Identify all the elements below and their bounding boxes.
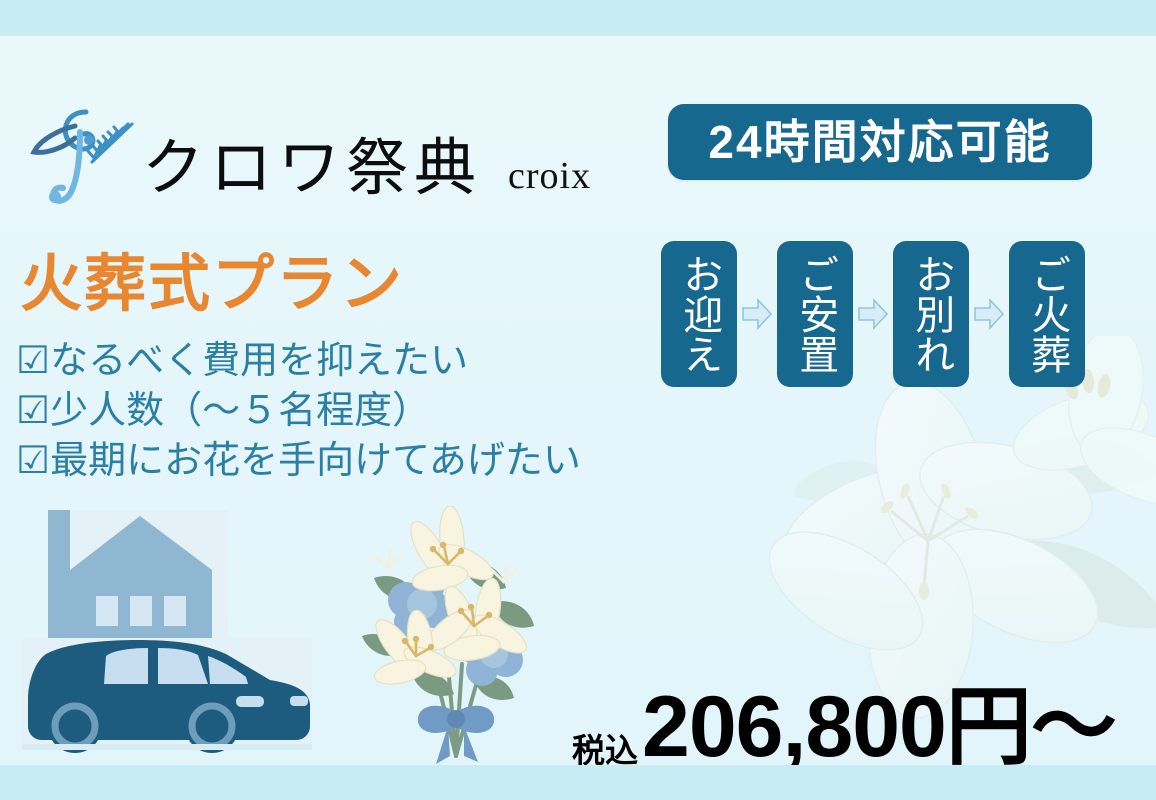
badge-24h: 24時間対応可能 [668, 104, 1092, 180]
flow-step-label: お別れ [910, 254, 952, 374]
flow-step-3: お別れ [893, 241, 969, 387]
price-block: 税込 206,800円〜 [572, 684, 1116, 765]
plan-title: 火葬式プラン [20, 254, 404, 316]
flow-step-label: ご安置 [794, 254, 836, 374]
checklist-item: ☑なるべく費用を抑えたい [16, 336, 636, 386]
poster-stage: クロワ祭典 croix 火葬式プラン ☑なるべく費用を抑えたい ☑少人数（〜５名… [0, 36, 1156, 765]
right-arrow-icon [973, 297, 1005, 331]
badge-24h-label: 24時間対応可能 [708, 119, 1051, 165]
hearse-and-crematorium-icon [8, 498, 348, 765]
service-flow: お迎え ご安置 お別れ ご火葬 [661, 241, 1085, 387]
fern-flourish-icon [28, 96, 146, 214]
bottom-band [0, 765, 1156, 800]
bouquet-icon [344, 506, 574, 765]
flow-step-2: ご安置 [777, 241, 853, 387]
right-arrow-icon [741, 297, 773, 331]
checklist-item: ☑最期にお花を手向けてあげたい [16, 436, 636, 486]
plan-checklist: ☑なるべく費用を抑えたい ☑少人数（〜５名程度） ☑最期にお花を手向けてあげたい [16, 336, 636, 486]
flow-step-1: お迎え [661, 241, 737, 387]
poster-root: クロワ祭典 croix 火葬式プラン ☑なるべく費用を抑えたい ☑少人数（〜５名… [0, 0, 1156, 800]
checklist-item: ☑少人数（〜５名程度） [16, 386, 636, 436]
brand-logo: クロワ祭典 croix [28, 94, 591, 214]
price-tax-label: 税込 [572, 734, 638, 765]
flow-step-label: ご火葬 [1026, 254, 1068, 374]
flow-step-4: ご火葬 [1009, 241, 1085, 387]
top-band [0, 0, 1156, 36]
brand-name-en: croix [508, 154, 591, 198]
right-arrow-icon [857, 297, 889, 331]
price-amount: 206,800円〜 [642, 684, 1116, 765]
flow-step-label: お迎え [678, 254, 720, 374]
brand-name-ja: クロワ祭典 [142, 138, 482, 200]
